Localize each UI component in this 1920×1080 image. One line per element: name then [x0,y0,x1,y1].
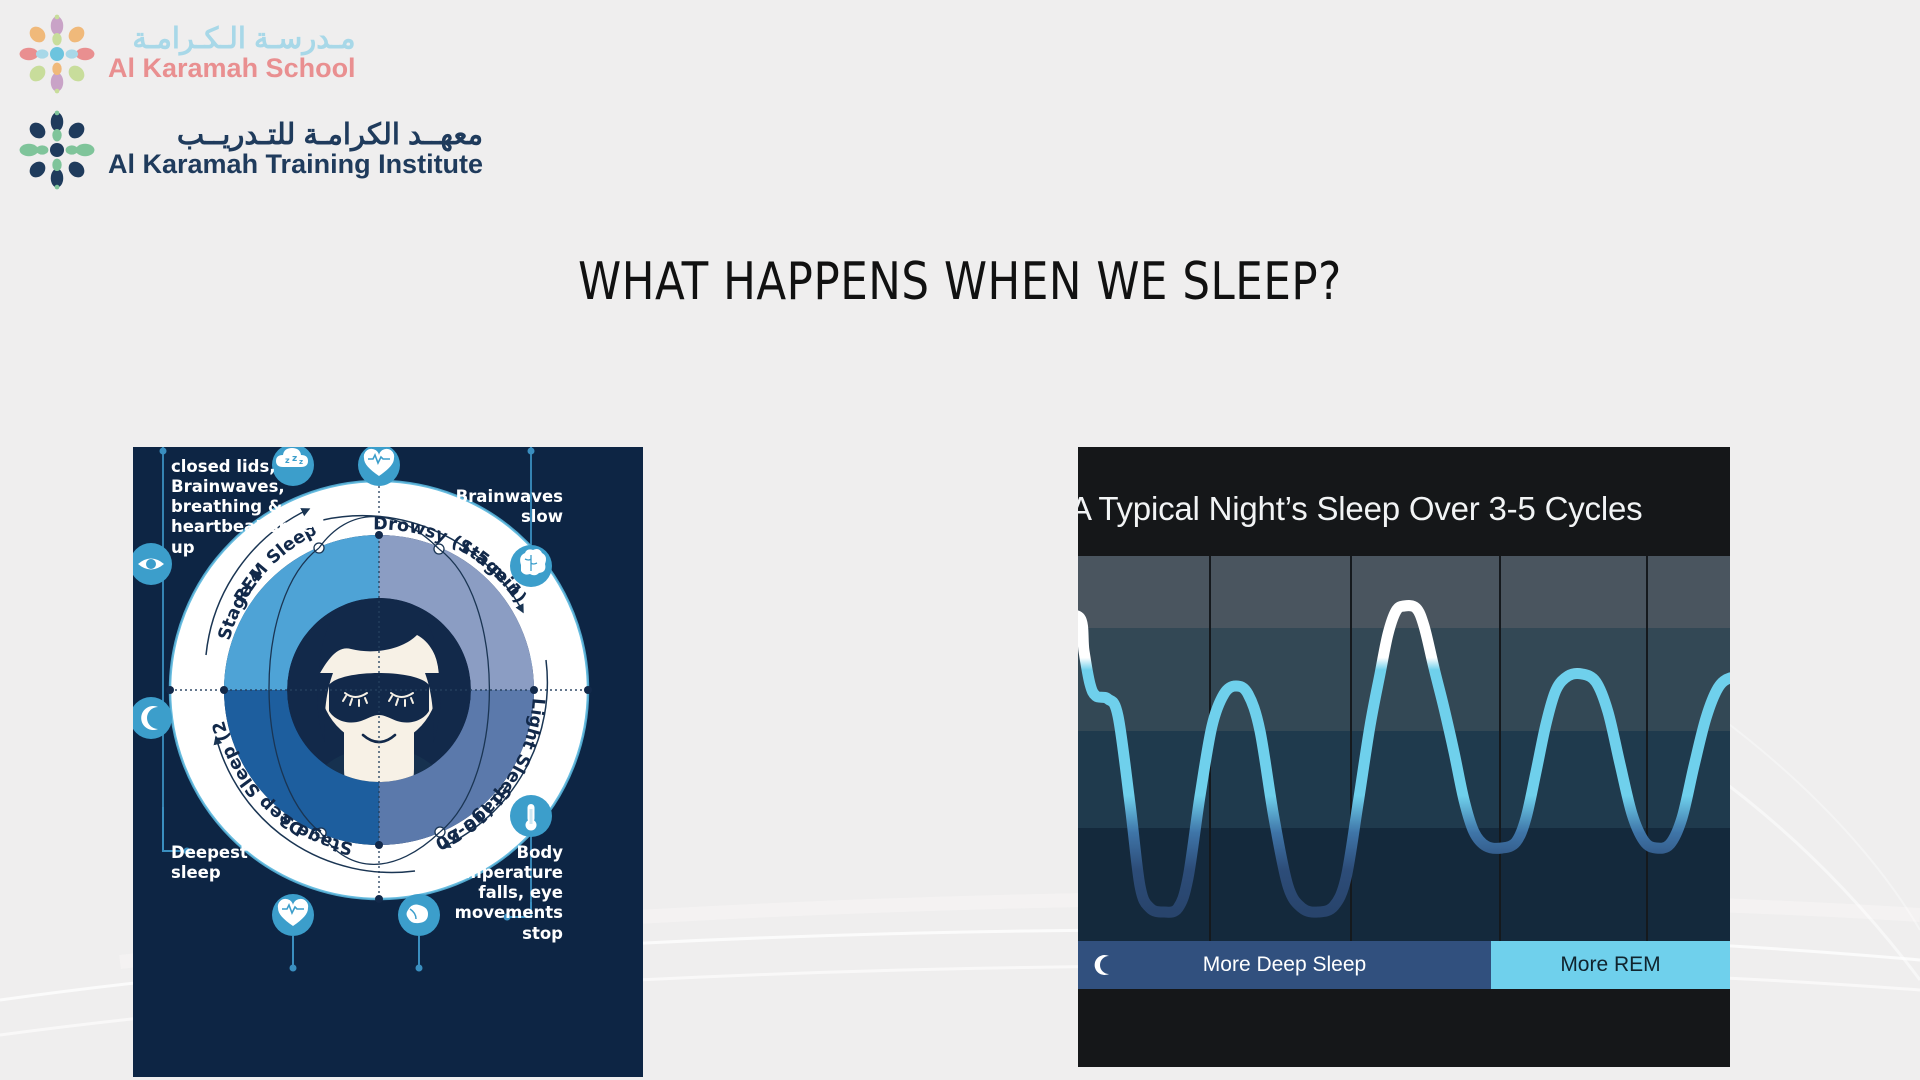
callout-top-left: closed lids, Brainwaves, breathing & hea… [171,457,331,558]
institute-arabic-name: معهــد الكرامـة للتـدريــب [108,121,483,151]
moon-icon [1092,952,1118,978]
brain-icon [510,545,552,587]
school-arabic-name: مـدرسـة الـكـرامـة [108,25,356,55]
school-english-name: Al Karamah School [108,55,356,83]
heart-pulse-icon [272,894,314,936]
moon-icon [133,697,172,739]
legend-more-deep-sleep: Deep Sleep More Deep Sleep [1078,941,1491,989]
page-title: WHAT HAPPENS WHEN WE SLEEP? [309,252,1611,312]
heartbeat-icon [358,447,400,486]
school-mandala-icon [18,14,96,94]
school-logo-text: مـدرسـة الـكـرامـة Al Karamah School [108,25,356,82]
presentation-slide: مـدرسـة الـكـرامـة Al Karamah School [0,0,1920,1080]
eye-icon [133,543,172,585]
legend-text-rem: More REM [1560,953,1660,977]
sleep-cycle-wheel-image: Stage 4 Stage 1 Stage 2 Stage 3 REM Slee… [133,447,643,1077]
legend-more-rem: More REM [1491,941,1730,989]
callout-bottom-right: Body temperature falls, eye movements st… [411,843,563,944]
institute-logo-text: معهــد الكرامـة للتـدريــب Al Karamah Tr… [108,121,483,178]
institute-mandala-icon [18,110,96,190]
sleep-stage-line [1078,556,1730,941]
callout-top-right: Brainwaves slow [423,487,563,527]
logo-al-karamah-training-institute: معهــد الكرامـة للتـدريــب Al Karamah Tr… [18,110,483,190]
chart-plot-area [1078,556,1730,941]
chart-title: A Typical Night’s Sleep Over 3-5 Cycles [1078,490,1730,528]
thermometer-icon [510,795,552,837]
legend-text-deep: More Deep Sleep [1203,953,1366,977]
logo-al-karamah-school: مـدرسـة الـكـرامـة Al Karamah School [18,14,356,94]
logo-block: مـدرسـة الـكـرامـة Al Karamah School [18,14,638,174]
chart-legend: Deep Sleep More Deep Sleep More REM [1078,941,1730,989]
institute-english-name: Al Karamah Training Institute [108,151,483,179]
callout-bottom-left: Deepest sleep [171,843,291,883]
typical-night-sleep-chart-image: A Typical Night’s Sleep Over 3-5 Cycles [1078,447,1730,1067]
